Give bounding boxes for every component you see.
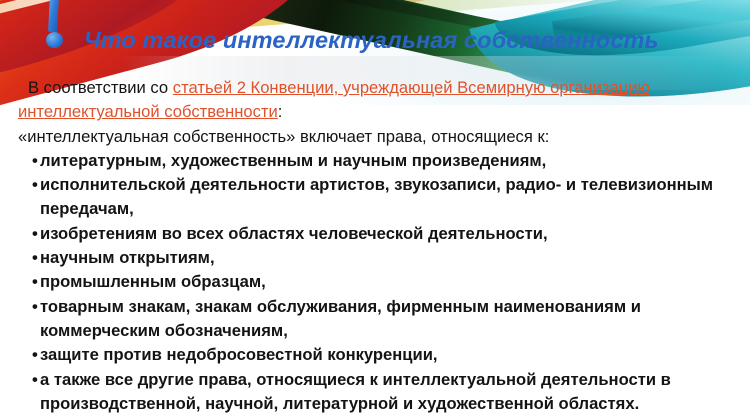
list-item-label: исполнительской деятельности артистов, з… — [32, 173, 734, 222]
list-item-label: изобретениям во всех областях человеческ… — [32, 222, 734, 246]
intro-tail-text: : — [278, 102, 283, 121]
intro-paragraph: В соответствии со статьей 2 Конвенции, у… — [18, 76, 734, 125]
slide-content: Что такое интеллектуальная собственность… — [0, 0, 750, 420]
list-item-label: промышленным образцам, — [32, 270, 734, 294]
intro-lead-text: В соответствии со — [28, 78, 173, 97]
presentation-slide: Что такое интеллектуальная собственность… — [0, 0, 750, 420]
list-item-label: литературным, художественным и научным п… — [32, 149, 734, 173]
list-item: изобретениям во всех областях человеческ… — [18, 222, 734, 246]
list-item-label: научным открытиям, — [32, 246, 734, 270]
list-item: литературным, художественным и научным п… — [18, 149, 734, 173]
list-item: исполнительской деятельности артистов, з… — [18, 173, 734, 222]
definition-line: «интеллектуальная собственность» включае… — [18, 125, 734, 149]
page-title: Что такое интеллектуальная собственность — [84, 27, 659, 54]
list-item-label: защите против недобросовестной конкуренц… — [32, 343, 734, 367]
list-item: промышленным образцам, — [18, 270, 734, 294]
list-item-label: а также все другие права, относящиеся к … — [32, 368, 734, 417]
slide-body: В соответствии со статьей 2 Конвенции, у… — [18, 76, 734, 416]
list-item-label: товарным знакам, знакам обслуживания, фи… — [32, 295, 734, 344]
list-item: научным открытиям, — [18, 246, 734, 270]
list-item: товарным знакам, знакам обслуживания, фи… — [18, 295, 734, 344]
rights-bullet-list: литературным, художественным и научным п… — [18, 149, 734, 416]
list-item: защите против недобросовестной конкуренц… — [18, 343, 734, 367]
list-item: а также все другие права, относящиеся к … — [18, 368, 734, 417]
